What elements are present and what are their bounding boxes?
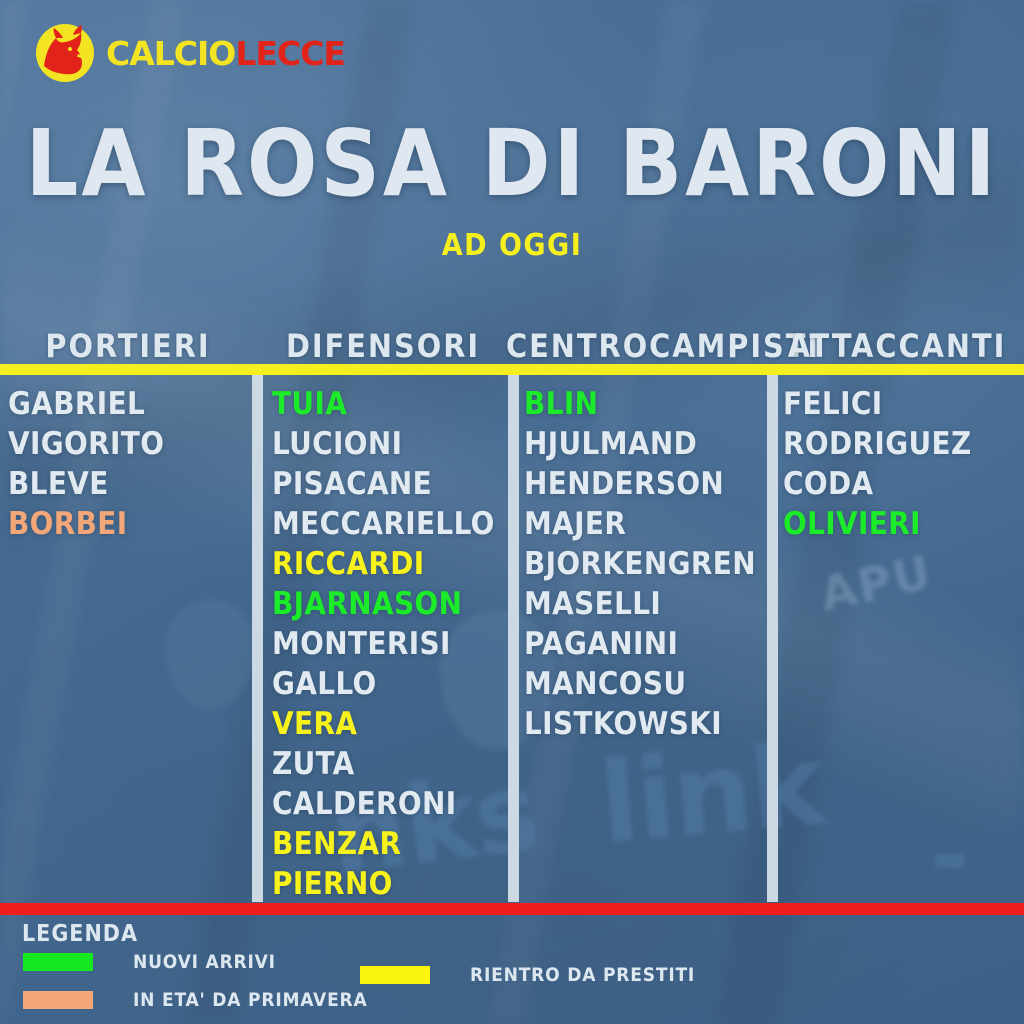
player-name: VERA xyxy=(272,704,504,744)
player-name: MANCOSU xyxy=(524,664,764,704)
player-list-difensori: TUIALUCIONIPISACANEMECCARIELLORICCARDIBJ… xyxy=(272,384,504,904)
player-name: BLIN xyxy=(524,384,764,424)
player-list-attaccanti: FELICIRODRIGUEZCODAOLIVIERI xyxy=(783,384,1019,544)
column-divider-2 xyxy=(508,375,519,902)
infographic-root: APU nks link - CALCIOLECCE LA ROSA DI BA… xyxy=(0,0,1024,1024)
brand-name-calcio: CALCIO xyxy=(106,37,235,70)
player-name: OLIVIERI xyxy=(783,504,1019,544)
page-subtitle: AD OGGI xyxy=(0,228,1024,263)
player-name: PISACANE xyxy=(272,464,504,504)
player-name: ZUTA xyxy=(272,744,504,784)
player-name: MASELLI xyxy=(524,584,764,624)
background-sponsor-watermark-dash: - xyxy=(930,800,968,912)
player-list-centrocampisti: BLINHJULMANDHENDERSONMAJERBJORKENGRENMAS… xyxy=(524,384,764,744)
player-name: CALDERONI xyxy=(272,784,504,824)
brand-logo[interactable]: CALCIOLECCE xyxy=(34,22,345,84)
background-crest-watermark-secondary xyxy=(165,600,255,710)
legend-label-nuovi-arrivi: NUOVI ARRIVI xyxy=(133,951,276,973)
player-name: TUIA xyxy=(272,384,504,424)
player-name: RICCARDI xyxy=(272,544,504,584)
player-name: LUCIONI xyxy=(272,424,504,464)
player-name: VIGORITO xyxy=(8,424,248,464)
player-name: BJORKENGREN xyxy=(524,544,764,584)
legend-title: LEGENDA xyxy=(22,921,138,947)
player-name: MAJER xyxy=(524,504,764,544)
page-title: LA ROSA DI BARONI xyxy=(0,118,1024,210)
legend-swatch-peach xyxy=(23,991,93,1009)
brand-wordmark: CALCIOLECCE xyxy=(106,37,345,70)
player-name: PAGANINI xyxy=(524,624,764,664)
legend-label-rientro-prestiti: RIENTRO DA PRESTITI xyxy=(470,964,695,986)
legend-item-primavera: IN ETA' DA PRIMAVERA xyxy=(23,989,368,1011)
player-name: GABRIEL xyxy=(8,384,248,424)
column-header-portieri: PORTIERI xyxy=(4,328,252,364)
player-name: MECCARIELLO xyxy=(272,504,504,544)
legend-item-nuovi-arrivi: NUOVI ARRIVI xyxy=(23,951,276,973)
player-name: BJARNASON xyxy=(272,584,504,624)
player-name: FELICI xyxy=(783,384,1019,424)
wolf-head-icon xyxy=(34,22,96,84)
player-name: MONTERISI xyxy=(272,624,504,664)
player-name: GALLO xyxy=(272,664,504,704)
column-headers: PORTIERI DIFENSORI CENTROCAMPISTI ATTACC… xyxy=(0,328,1024,364)
legend-label-primavera: IN ETA' DA PRIMAVERA xyxy=(133,989,368,1011)
legend-separator-bar xyxy=(0,903,1024,915)
player-name: BENZAR xyxy=(272,824,504,864)
player-list-portieri: GABRIELVIGORITOBLEVEBORBEI xyxy=(8,384,248,544)
player-name: RODRIGUEZ xyxy=(783,424,1019,464)
header-underline-bar xyxy=(0,364,1024,375)
player-name: PIERNO xyxy=(272,864,504,904)
legend-swatch-yellow xyxy=(360,966,430,984)
player-name: HJULMAND xyxy=(524,424,764,464)
column-divider-3 xyxy=(767,375,778,902)
legend-item-rientro-prestiti: RIENTRO DA PRESTITI xyxy=(360,964,695,986)
column-divider-1 xyxy=(252,375,263,902)
column-header-difensori: DIFENSORI xyxy=(258,328,508,364)
player-name: CODA xyxy=(783,464,1019,504)
column-header-attaccanti: ATTACCANTI xyxy=(772,328,1022,364)
player-name: LISTKOWSKI xyxy=(524,704,764,744)
player-name: BORBEI xyxy=(8,504,248,544)
player-name: HENDERSON xyxy=(524,464,764,504)
background-sponsor-watermark-apu: APU xyxy=(816,545,937,621)
column-header-centrocampisti: CENTROCAMPISTI xyxy=(506,328,774,364)
brand-name-lecce: LECCE xyxy=(235,37,345,70)
player-name: BLEVE xyxy=(8,464,248,504)
legend-swatch-green xyxy=(23,953,93,971)
